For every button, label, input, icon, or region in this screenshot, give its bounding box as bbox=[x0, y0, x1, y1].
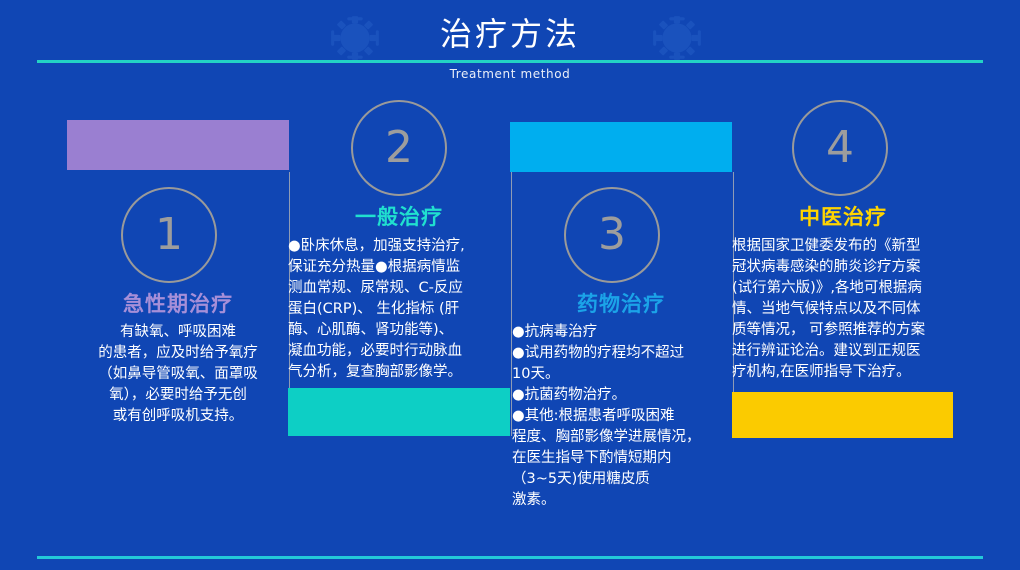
column-1-accent-bar bbox=[67, 120, 289, 170]
page-subtitle: Treatment method bbox=[0, 65, 1020, 83]
column-4-accent-bar bbox=[732, 392, 953, 438]
column-2-body: ●卧床休息，加强支持治疗, 保证充分热量●根据病情监 测血常规、尿常规、C-反应… bbox=[288, 236, 514, 383]
column-2-number-badge: 2 bbox=[351, 100, 447, 196]
column-3-body: ●抗病毒治疗 ●试用药物的疗程均不超过 10天。 ●抗菌药物治疗。 ●其他:根据… bbox=[512, 322, 738, 511]
slide-canvas: 治疗方法 Treatment method 1 急性期治疗 有缺氧、呼吸困难 的… bbox=[0, 0, 1020, 570]
column-4-body: 根据国家卫健委发布的《新型 冠状病毒感染的肺炎诊疗方案 (试行第六版)》,各地可… bbox=[732, 236, 962, 383]
slide-header: 治疗方法 Treatment method bbox=[0, 0, 1020, 92]
page-title: 治疗方法 bbox=[0, 14, 1020, 54]
column-3-accent-bar bbox=[510, 122, 732, 172]
column-2-title: 一般治疗 bbox=[288, 203, 510, 231]
footer-divider bbox=[37, 556, 983, 559]
column-3-title: 药物治疗 bbox=[510, 290, 732, 318]
column-4-title: 中医治疗 bbox=[732, 203, 954, 231]
column-2-accent-bar bbox=[288, 388, 510, 436]
column-1-number-badge: 1 bbox=[121, 187, 217, 283]
column-1-body: 有缺氧、呼吸困难 的患者，应及时给予氧疗 （如鼻导管吸氧、面罩吸 氧），必要时给… bbox=[69, 322, 287, 427]
column-1-title: 急性期治疗 bbox=[67, 290, 289, 318]
column-4-number-badge: 4 bbox=[792, 100, 888, 196]
column-3-number-badge: 3 bbox=[564, 187, 660, 283]
header-divider bbox=[37, 60, 983, 63]
